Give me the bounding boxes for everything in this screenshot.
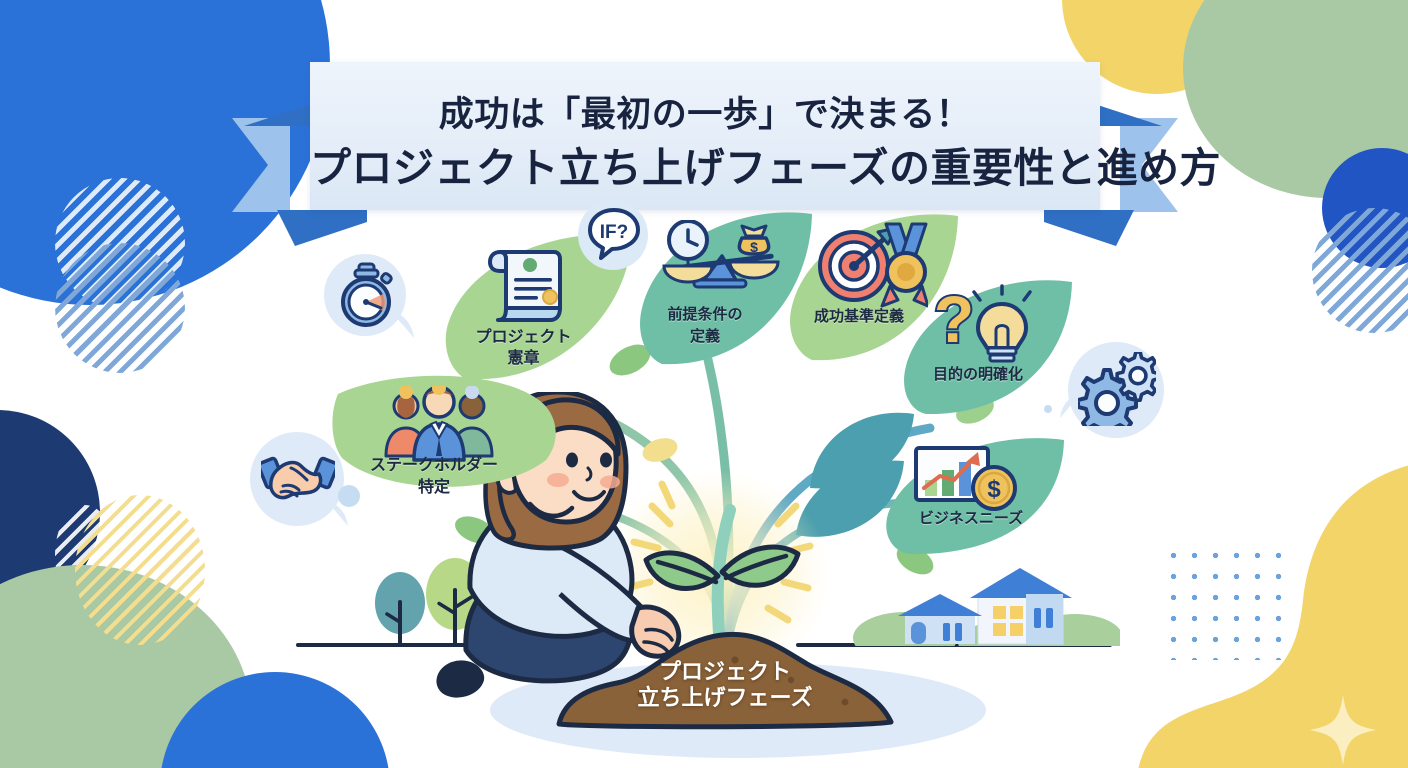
svg-text:$: $ xyxy=(987,476,1001,503)
bg-blob-yellow-bottom-right xyxy=(1138,425,1408,768)
svg-text:?: ? xyxy=(934,284,974,356)
banner-title-line-1: 成功は「最初の一歩」で決まる！ xyxy=(310,86,1100,137)
handshake-icon xyxy=(261,452,335,506)
people-group-icon xyxy=(384,386,494,464)
bg-striped-circle-yellow-left xyxy=(75,495,205,645)
leaf-label-line-2: 定義 xyxy=(614,328,796,345)
leaf-label-line-1: ビジネスニーズ xyxy=(876,510,1066,527)
leaf-label-line-1: 目的の明確化 xyxy=(888,366,1068,383)
leaf-label-line-1: ステークホルダー xyxy=(318,456,550,474)
balance-scale-icon: $ xyxy=(660,220,780,308)
illustration-canvas: 成功は「最初の一歩」で決まる！ プロジェクト立ち上げフェーズの重要性と進め方 xyxy=(0,0,1408,768)
banner-title-line-2: プロジェクト立ち上げフェーズの重要性と進め方 xyxy=(310,134,1100,194)
bg-striped-circle-top-left-lower xyxy=(55,243,185,373)
leaf-label-line-1: 前提条件の xyxy=(614,306,796,323)
leaf-business-needs: $ ビジネスニーズ xyxy=(880,436,1070,556)
leaf-stakeholder-identification: ステークホルダー 特定 xyxy=(330,372,562,512)
document-scroll-icon xyxy=(488,246,570,326)
svg-text:$: $ xyxy=(750,239,758,255)
leaf-label-line-1: プロジェクト xyxy=(426,328,621,346)
gears-icon xyxy=(1078,352,1156,426)
banner-plate: 成功は「最初の一歩」で決まる！ プロジェクト立ち上げフェーズの重要性と進め方 xyxy=(310,62,1100,210)
leaf-label-line-2: 憲章 xyxy=(426,349,621,367)
growth-chart-coin-icon: $ xyxy=(912,442,1018,514)
bubble-stopwatch-tail xyxy=(390,310,422,342)
stopwatch-icon xyxy=(335,262,397,328)
question-lightbulb-icon: ? xyxy=(926,284,1034,368)
leaf-purpose-clarification: ? 目的の明確化 xyxy=(898,278,1078,416)
speech-if-icon: IF? xyxy=(588,208,640,262)
bg-dot-accent-purpose xyxy=(1044,405,1052,413)
bg-dot-accent-left xyxy=(338,485,360,507)
svg-text:IF?: IF? xyxy=(600,222,629,243)
